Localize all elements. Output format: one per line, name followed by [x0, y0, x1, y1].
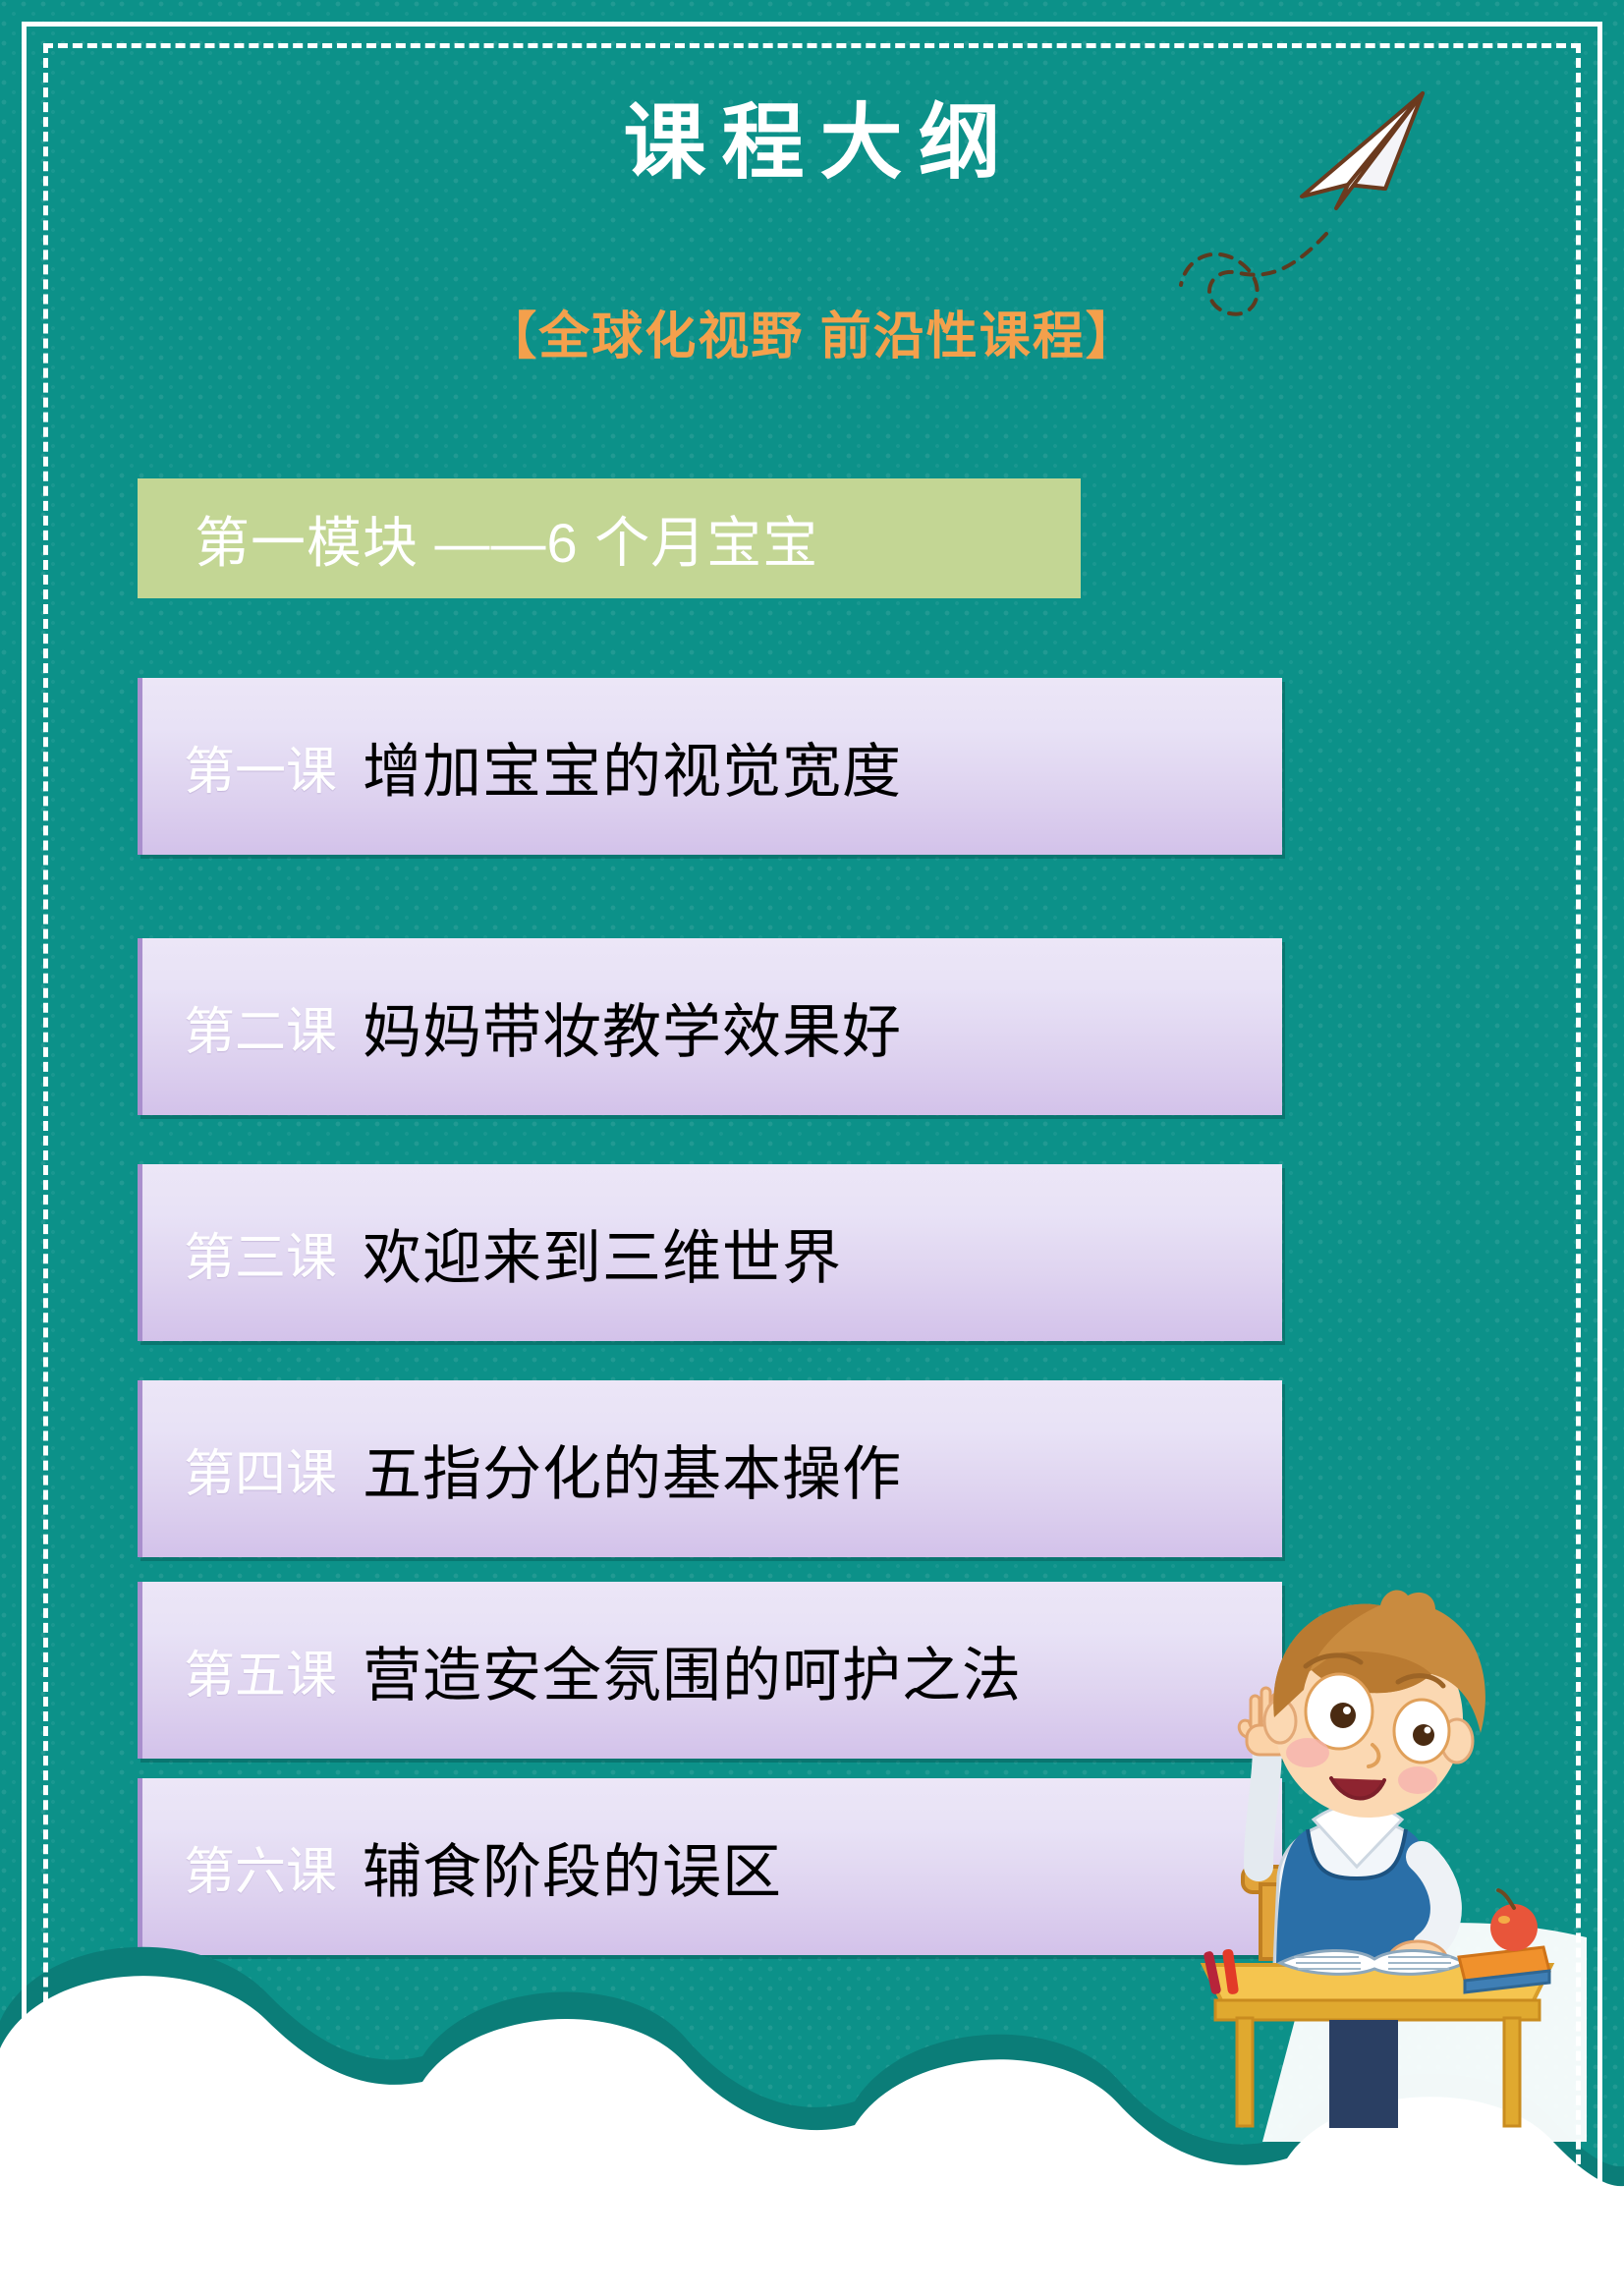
- lesson-row[interactable]: 第四课 五指分化的基本操作: [138, 1380, 1282, 1557]
- dashed-trail-icon: [1179, 226, 1375, 373]
- lesson-title: 欢迎来到三维世界: [337, 1210, 842, 1296]
- lesson-row[interactable]: 第一课 增加宝宝的视觉宽度: [138, 678, 1282, 855]
- module-header-bar: 第一模块 ——6 个月宝宝: [138, 478, 1081, 598]
- lesson-number: 第五课: [142, 1634, 337, 1708]
- lesson-row[interactable]: 第三课 欢迎来到三维世界: [138, 1164, 1282, 1341]
- lesson-number: 第四课: [142, 1432, 337, 1506]
- lesson-title: 五指分化的基本操作: [337, 1427, 902, 1512]
- lesson-number: 第一课: [142, 730, 337, 804]
- student-boy-illustration: [1164, 1572, 1587, 2142]
- lesson-row[interactable]: 第二课 妈妈带妆教学效果好: [138, 938, 1282, 1115]
- page-subtitle: 【全球化视野 前沿性课程】: [0, 295, 1624, 368]
- lesson-number: 第二课: [142, 990, 337, 1064]
- module-label: 第一模块 ——6 个月宝宝: [138, 499, 818, 579]
- poster-canvas: 课程大纲 【全球化视野 前沿性课程】 第一模块 ——6 个月宝宝 第一课 增加宝…: [0, 0, 1624, 2296]
- lesson-title: 营造安全氛围的呵护之法: [337, 1628, 1022, 1713]
- lesson-title: 妈妈带妆教学效果好: [337, 984, 902, 1070]
- lesson-number: 第三课: [142, 1216, 337, 1290]
- lesson-row[interactable]: 第五课 营造安全氛围的呵护之法: [138, 1582, 1282, 1759]
- lesson-title: 增加宝宝的视觉宽度: [337, 724, 902, 810]
- paper-plane-icon: [1267, 79, 1464, 226]
